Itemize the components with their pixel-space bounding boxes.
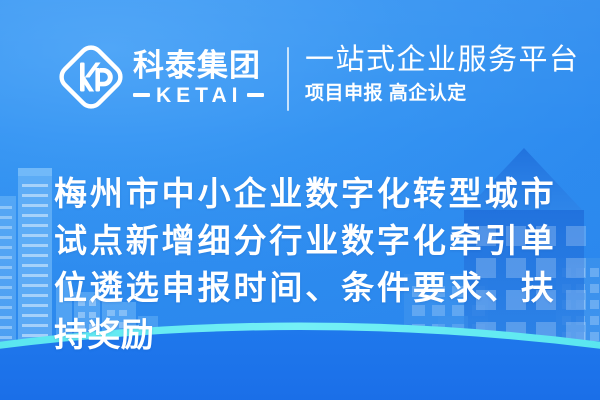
brand-logo[interactable]: 科泰集团 KETAI xyxy=(58,44,264,110)
tagline-main: 一站式企业服务平台 xyxy=(305,42,580,78)
brand-wordmark: 科泰集团 KETAI xyxy=(133,49,264,106)
dash-left-icon xyxy=(133,93,150,97)
header-tagline: 一站式企业服务平台 项目申报 高企认定 xyxy=(305,42,580,107)
brand-name-en: KETAI xyxy=(156,85,242,106)
page-title: 梅州市中小企业数字化转型城市试点新增细分行业数字化牵引单位遴选申报时间、条件要求… xyxy=(54,170,554,358)
dash-right-icon xyxy=(247,93,264,97)
banner-header: 科泰集团 KETAI 一站式企业服务平台 项目申报 高企认定 xyxy=(0,0,600,140)
ketai-kp-monogram-icon xyxy=(58,44,124,110)
tagline-sub: 项目申报 高企认定 xyxy=(305,81,580,107)
header-divider xyxy=(287,47,289,111)
promo-banner: 科泰集团 KETAI 一站式企业服务平台 项目申报 高企认定 梅州市中小企业数字… xyxy=(0,0,600,400)
logo-mark-svg xyxy=(58,44,124,110)
brand-name-en-row: KETAI xyxy=(133,85,264,106)
brand-name-cn: 科泰集团 xyxy=(133,49,264,83)
